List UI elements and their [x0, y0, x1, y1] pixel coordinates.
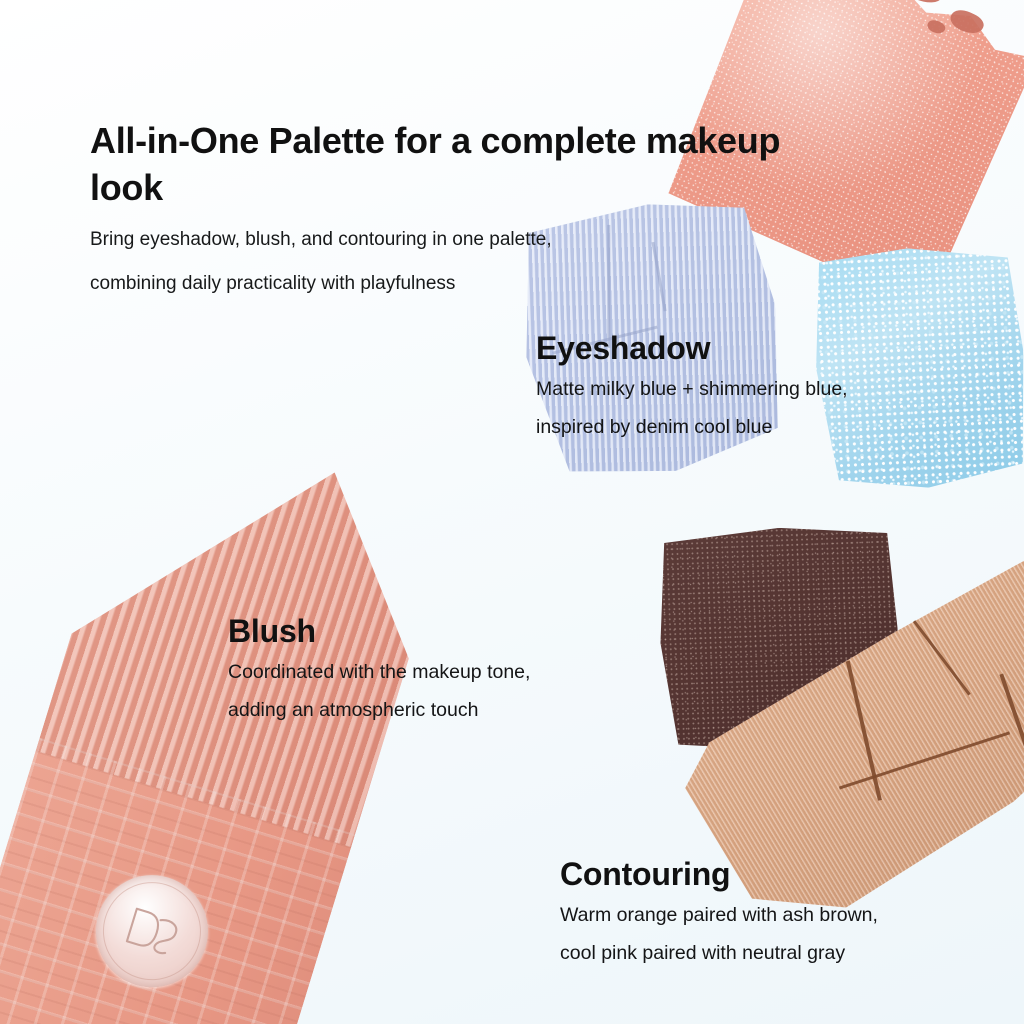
contouring-heading: Contouring: [560, 856, 1024, 894]
blush-desc-line-2: adding an atmospheric touch: [228, 694, 648, 727]
blush-heading: Blush: [228, 613, 648, 651]
eyeshadow-heading: Eyeshadow: [536, 330, 1006, 368]
blush-text-block: Blush Coordinated with the makeup tone, …: [228, 613, 648, 726]
eyeshadow-desc-line-2: inspired by denim cool blue: [536, 411, 1006, 444]
hero-subtext-line-2: combining daily practicality with playfu…: [90, 268, 790, 300]
eyeshadow-desc-line-1: Matte milky blue + shimmering blue,: [536, 373, 1006, 406]
page-title: All-in-One Palette for a complete makeup…: [90, 118, 790, 212]
contouring-text-block: Contouring Warm orange paired with ash b…: [560, 856, 1024, 969]
hero-subtext-line-1: Bring eyeshadow, blush, and contouring i…: [90, 224, 790, 256]
eyeshadow-text-block: Eyeshadow Matte milky blue + shimmering …: [536, 330, 1006, 443]
contouring-desc-line-1: Warm orange paired with ash brown,: [560, 899, 1024, 932]
product-showcase-canvas: All-in-One Palette for a complete makeup…: [0, 0, 1024, 1024]
hero-text-block: All-in-One Palette for a complete makeup…: [90, 118, 790, 300]
blush-desc-line-1: Coordinated with the makeup tone,: [228, 656, 648, 689]
contouring-desc-line-2: cool pink paired with neutral gray: [560, 937, 1024, 970]
